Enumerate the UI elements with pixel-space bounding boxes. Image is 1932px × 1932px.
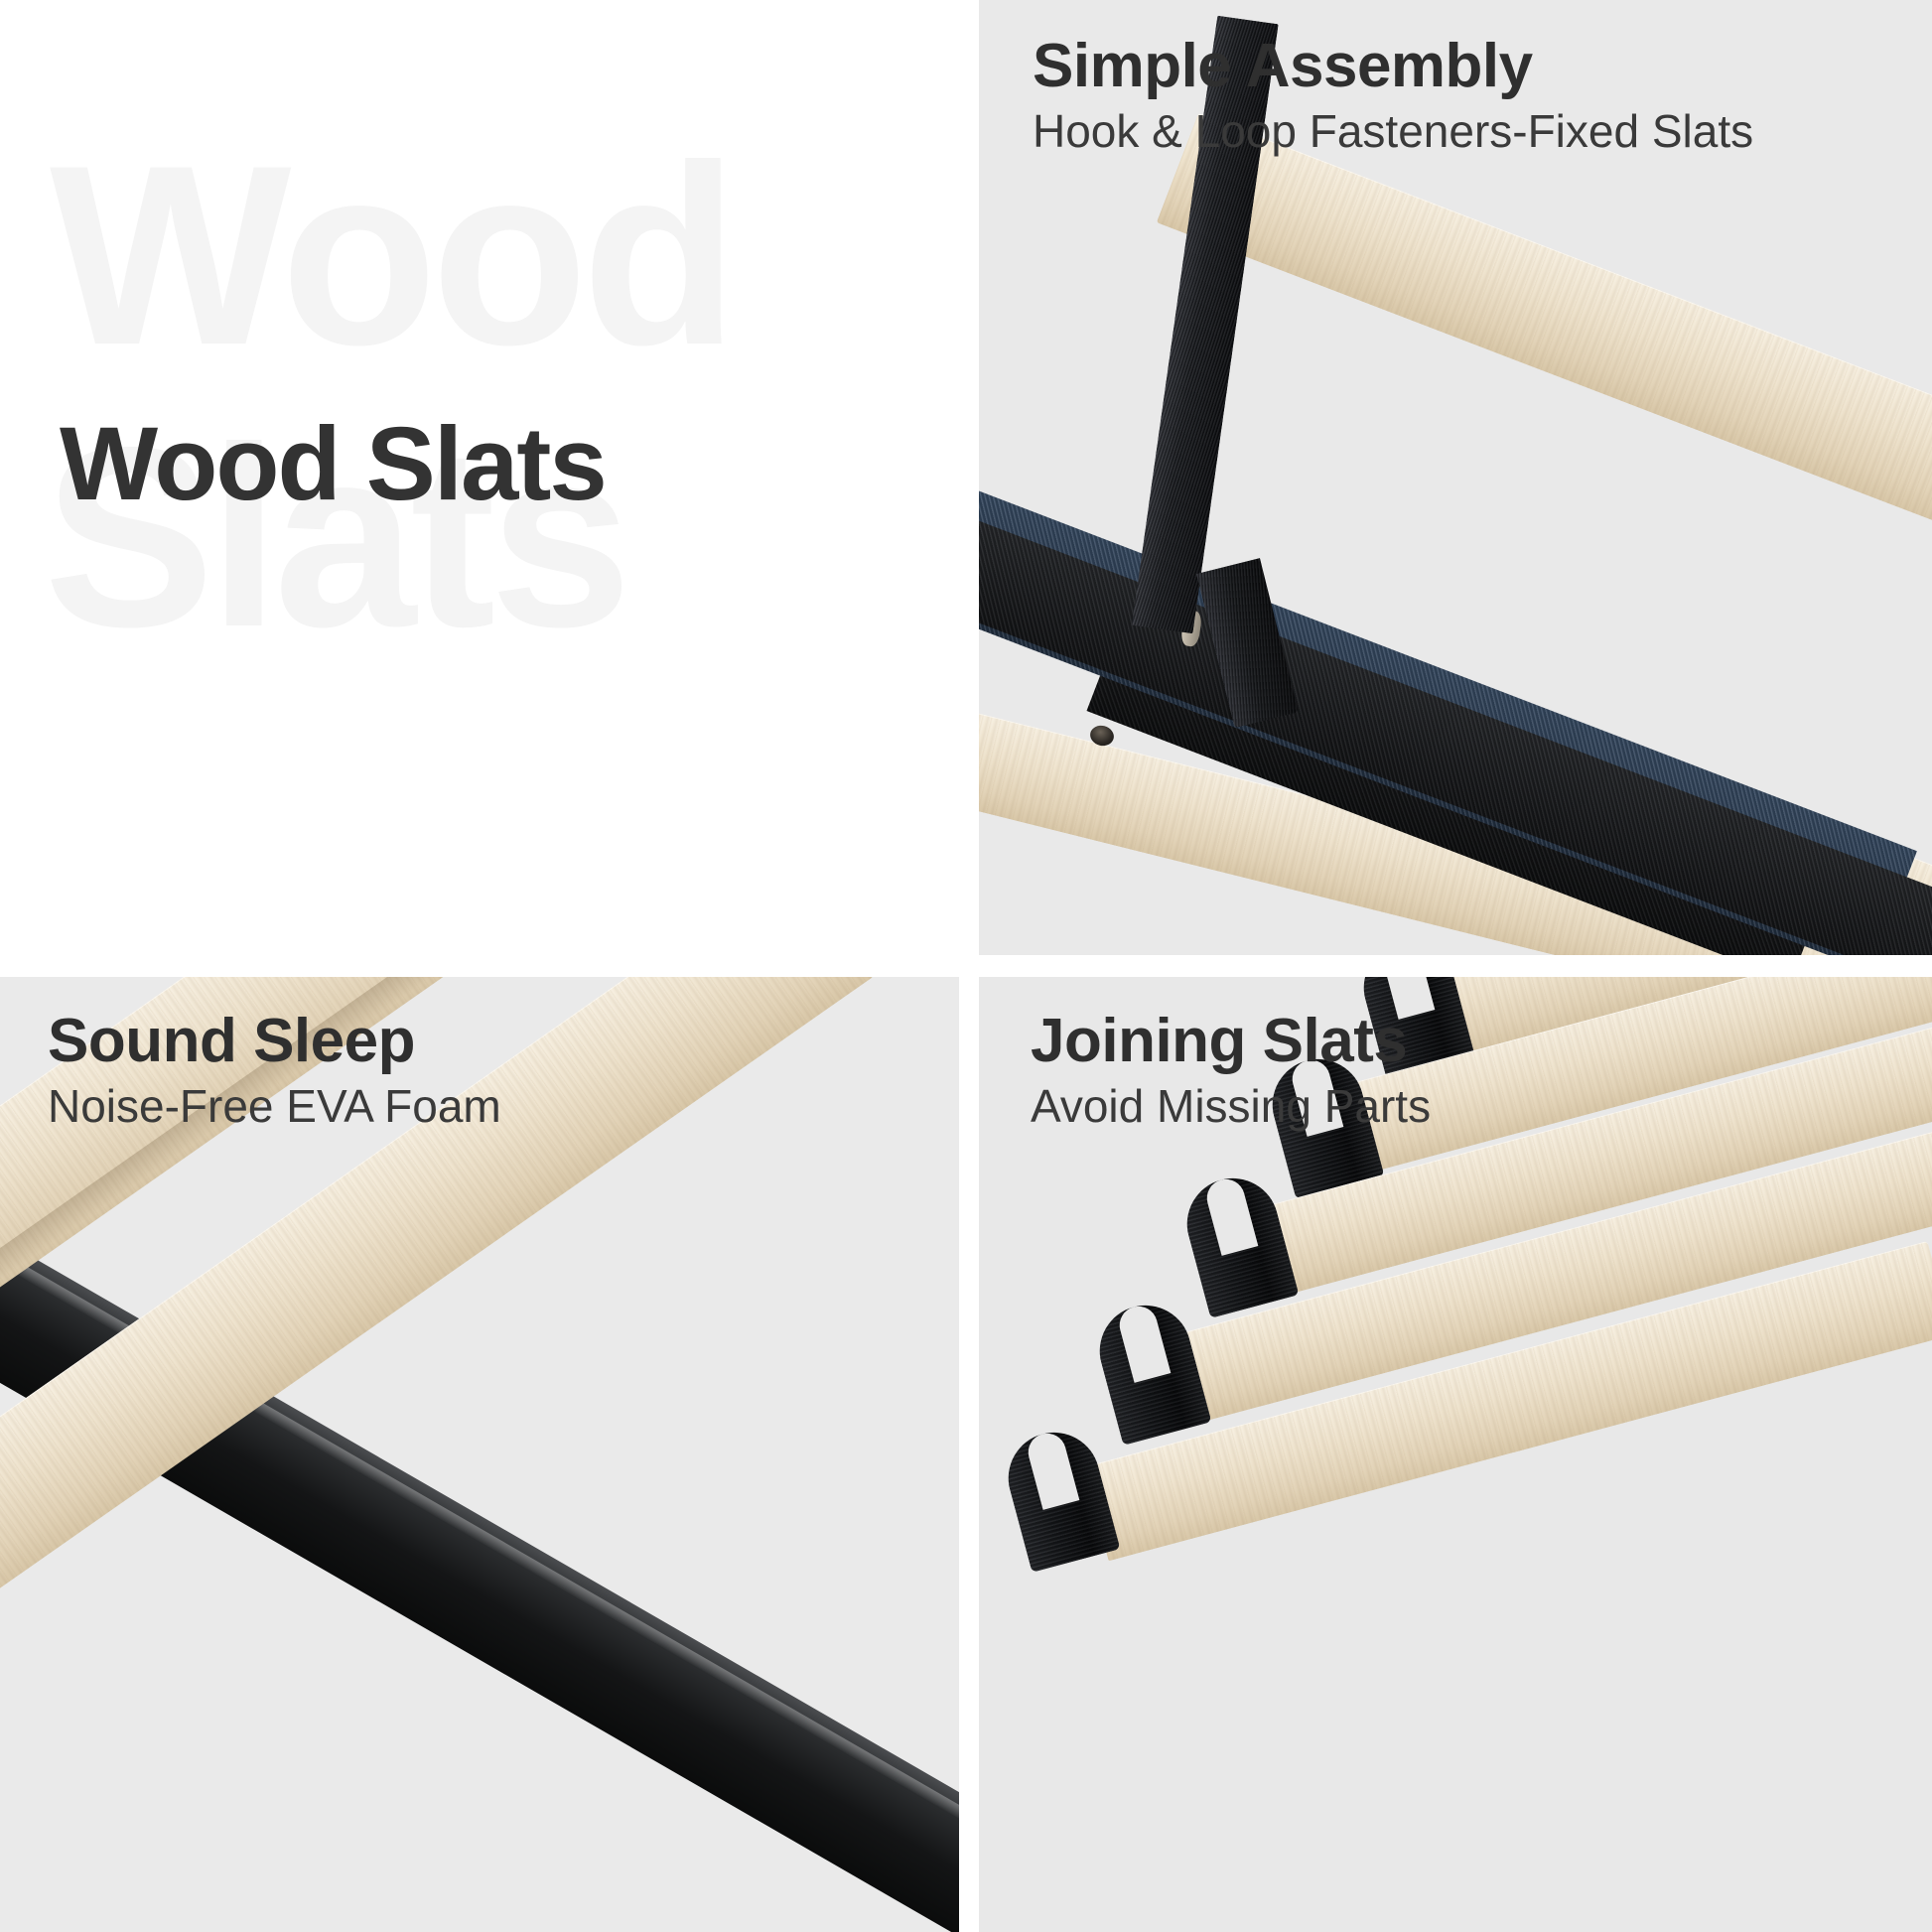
wood-slat-upper (1157, 113, 1932, 579)
caption-sound-sleep: Sound Sleep Noise-Free EVA Foam (48, 1011, 501, 1130)
watermark-line-1: Wood (50, 127, 733, 383)
product-feature-infographic: Wood Slats Wood Slats Simple Assembly (0, 0, 1932, 1932)
panel-subtitle-sound-sleep: Noise-Free EVA Foam (48, 1082, 501, 1130)
panel-title-simple-assembly: Simple Assembly (1033, 36, 1753, 97)
panel-joining-slats: Joining Slats Avoid Missing Parts (979, 977, 1932, 1932)
panel-subtitle-simple-assembly: Hook & Loop Fasteners-Fixed Slats (1033, 107, 1753, 155)
panel-simple-assembly: Simple Assembly Hook & Loop Fasteners-Fi… (979, 0, 1932, 955)
panel-title-sound-sleep: Sound Sleep (48, 1011, 501, 1072)
hero-wrap: Wood Slats Wood Slats (0, 0, 959, 955)
caption-simple-assembly: Simple Assembly Hook & Loop Fasteners-Fi… (1033, 36, 1753, 155)
panel-subtitle-joining-slats: Avoid Missing Parts (1031, 1082, 1431, 1130)
joining-loop-2 (1089, 1296, 1211, 1446)
caption-joining-slats: Joining Slats Avoid Missing Parts (1031, 1011, 1431, 1130)
panel-title-joining-slats: Joining Slats (1031, 1011, 1431, 1072)
joining-loop-3 (1176, 1169, 1299, 1318)
joining-loop-1 (998, 1423, 1120, 1573)
panel-hero: Wood Slats Wood Slats (0, 0, 959, 955)
hero-title: Wood Slats (60, 405, 606, 524)
panel-sound-sleep: Sound Sleep Noise-Free EVA Foam (0, 977, 959, 1932)
